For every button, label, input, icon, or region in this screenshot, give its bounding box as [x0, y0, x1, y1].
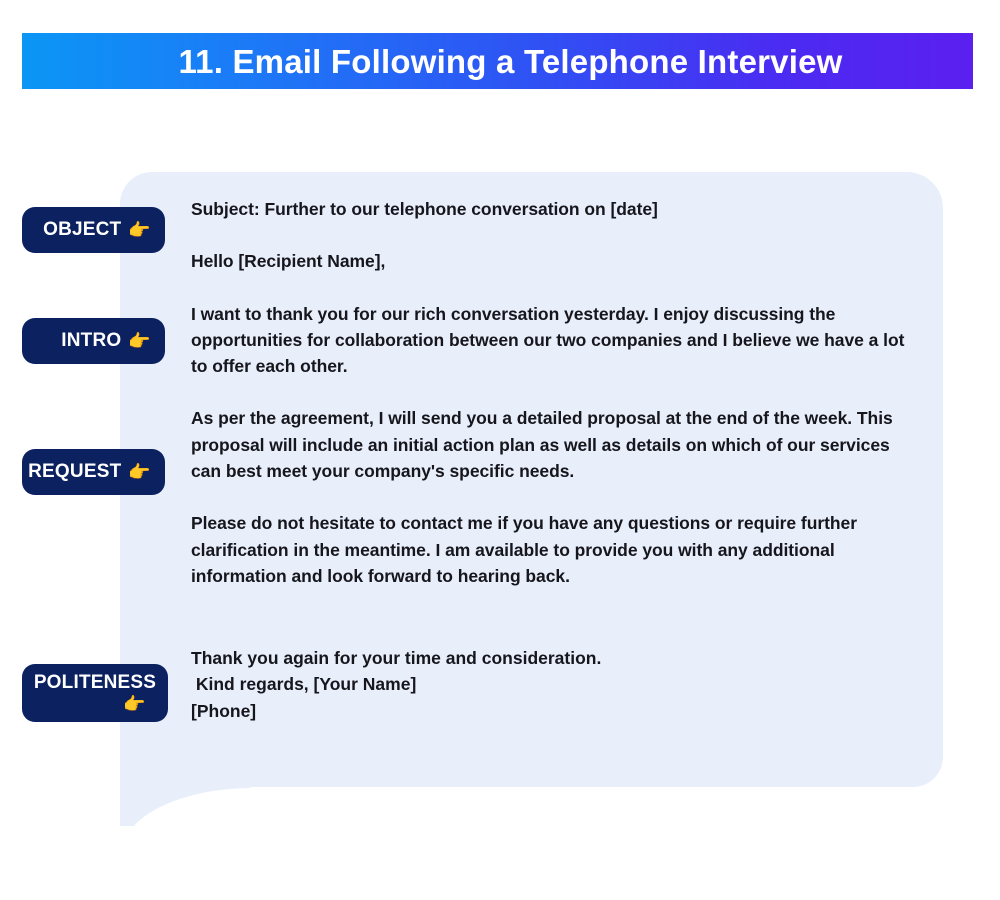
pointing-hand-icon: 👉	[32, 694, 158, 714]
section-label-object: OBJECT 👉	[22, 207, 165, 253]
header-banner: 11. Email Following a Telephone Intervie…	[22, 33, 973, 89]
pointing-hand-icon: 👉	[128, 221, 151, 239]
email-greeting-line: Hello [Recipient Name],	[191, 248, 907, 274]
section-label-request: REQUEST 👉	[22, 449, 165, 495]
email-request-paragraph: As per the agreement, I will send you a …	[191, 405, 907, 484]
section-label-politeness: POLITENESS 👉	[22, 664, 168, 722]
email-closing-block: Thank you again for your time and consid…	[191, 645, 907, 724]
email-body: Subject: Further to our telephone conver…	[191, 196, 907, 589]
email-closing-phone: [Phone]	[191, 698, 907, 724]
pointing-hand-icon: 👉	[128, 463, 151, 481]
section-label-intro: INTRO 👉	[22, 318, 165, 364]
email-availability-paragraph: Please do not hesitate to contact me if …	[191, 510, 907, 589]
section-label-intro-text: INTRO	[61, 330, 121, 352]
message-bubble-tail	[120, 770, 250, 826]
section-label-object-text: OBJECT	[43, 219, 121, 241]
pointing-hand-icon: 👉	[128, 332, 151, 350]
email-closing-regards: Kind regards, [Your Name]	[191, 671, 907, 697]
email-closing-thanks: Thank you again for your time and consid…	[191, 645, 907, 671]
email-subject-line: Subject: Further to our telephone conver…	[191, 196, 907, 222]
page-title: 11. Email Following a Telephone Intervie…	[152, 45, 842, 78]
email-intro-paragraph: I want to thank you for our rich convers…	[191, 301, 907, 380]
section-label-request-text: REQUEST	[28, 461, 121, 483]
section-label-politeness-text: POLITENESS	[32, 672, 158, 694]
